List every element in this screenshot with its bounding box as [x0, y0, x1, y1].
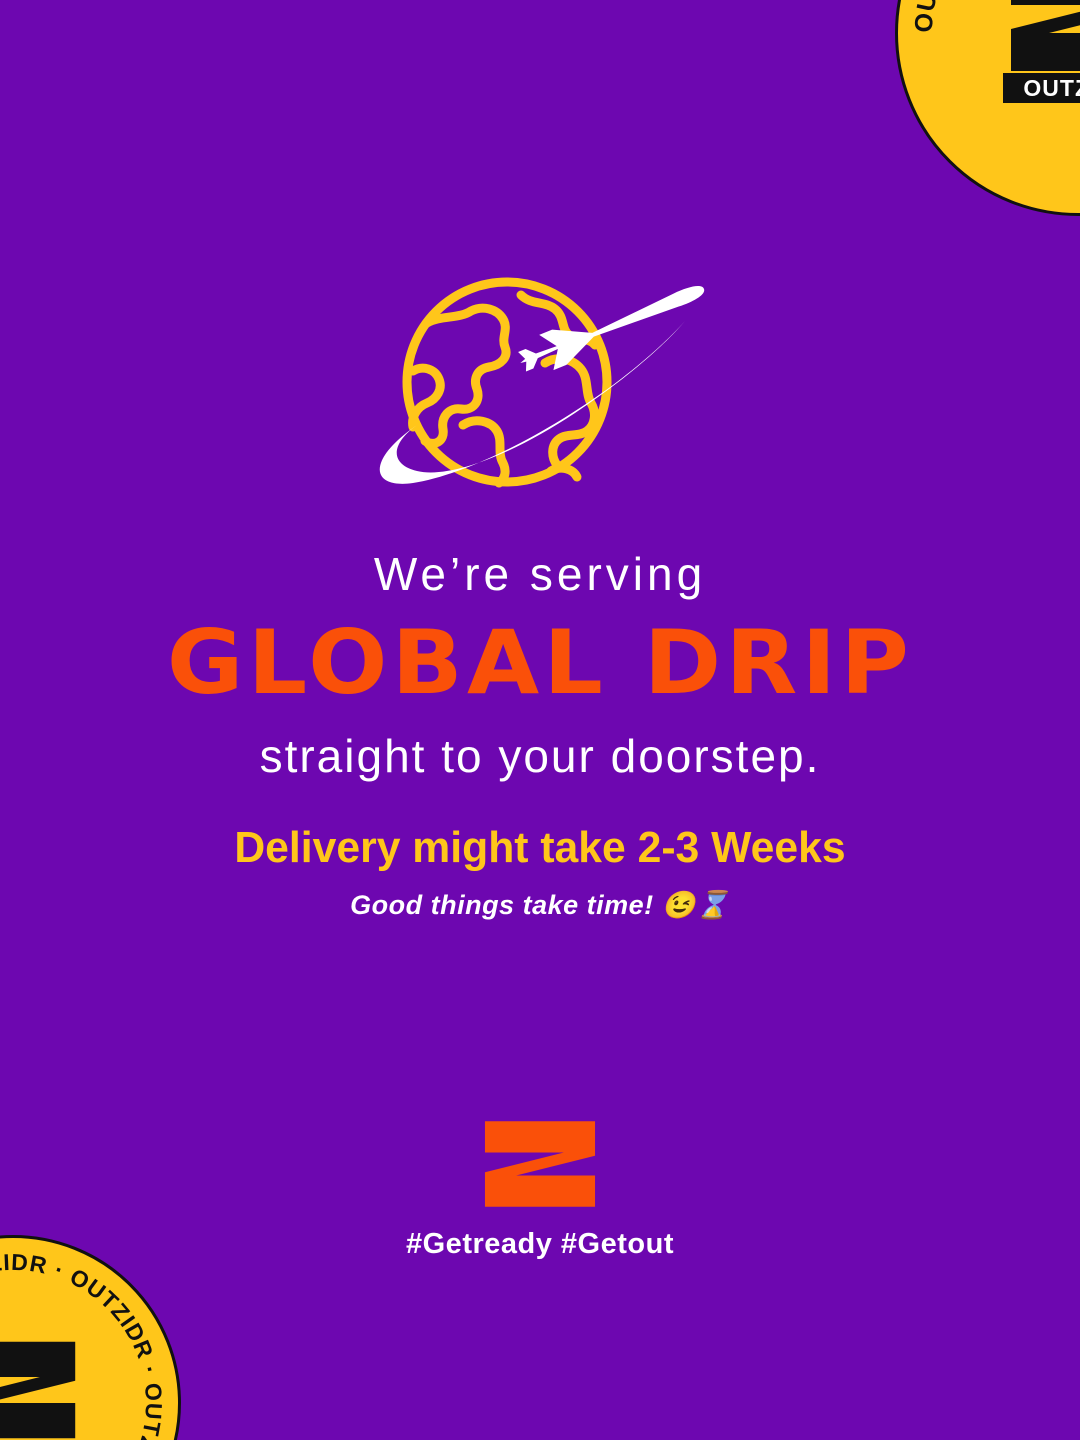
- brand-badge-bottom-left: OUTZIDR · OUTZIDR · OUTZIDR · OUTZIDR · …: [0, 1235, 181, 1440]
- delivery-block: Delivery might take 2-3 Weeks Good thing…: [0, 822, 1080, 921]
- badge-core-top-right: OUTZIDR: [1003, 0, 1080, 103]
- delivery-estimate: Delivery might take 2-3 Weeks: [16, 822, 1064, 875]
- badge-core-bottom-left: OUTZIDR: [0, 1338, 83, 1440]
- headline-line-2: GLOBAL DRIP: [0, 611, 1080, 715]
- z-logo-icon: [1003, 0, 1080, 75]
- headline-line-3: straight to your doorstep.: [0, 729, 1080, 784]
- globe-icon: [407, 282, 607, 483]
- promo-poster: OUTZIDR · OUTZIDR · OUTZIDR · OUTZIDR · …: [0, 0, 1080, 1440]
- badge-wordmark-text-tr: OUTZIDR: [1023, 77, 1080, 100]
- brand-badge-top-right: OUTZIDR · OUTZIDR · OUTZIDR · OUTZIDR · …: [895, 0, 1080, 216]
- z-logo-icon: [0, 1338, 83, 1440]
- badge-wordmark-top-right: OUTZIDR: [1003, 73, 1080, 103]
- headline-line-1: We’re serving: [0, 548, 1080, 601]
- delivery-subtext: Good things take time! 😉⌛: [0, 889, 1080, 921]
- z-logo-icon: [478, 1118, 602, 1210]
- globe-airplane-illustration: [355, 275, 715, 515]
- footer-hashtags: #Getready #Getout: [406, 1228, 674, 1261]
- headline-block: We’re serving GLOBAL DRIP straight to yo…: [0, 548, 1080, 784]
